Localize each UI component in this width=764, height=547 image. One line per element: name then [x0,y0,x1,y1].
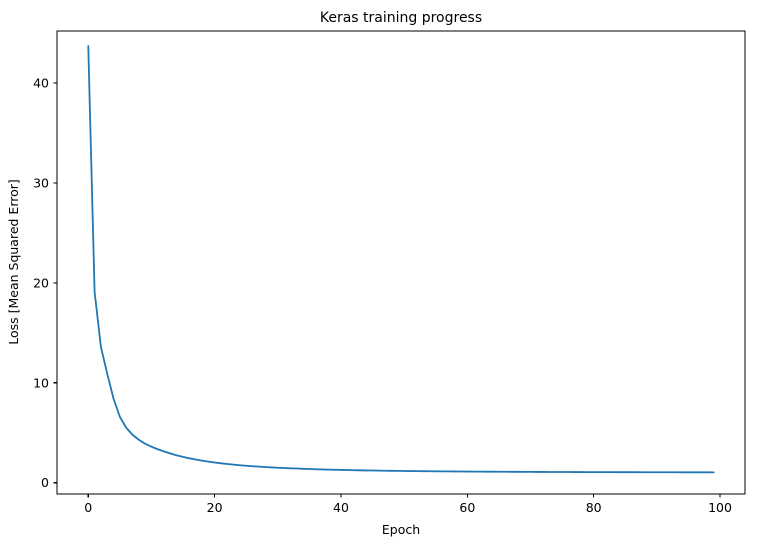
y-tick-label: 20 [33,275,49,290]
x-axis-ticks: 020406080100 [84,494,732,515]
x-tick-label: 80 [586,500,602,515]
y-tick-label: 30 [33,175,49,190]
y-axis-ticks: 010203040 [33,75,57,490]
x-axis-label: Epoch [382,522,420,537]
y-tick-label: 40 [33,75,49,90]
chart-plot: 020406080100 010203040 Keras training pr… [0,0,764,547]
x-tick-label: 40 [333,500,349,515]
y-tick-label: 10 [33,375,49,390]
y-axis-label: Loss [Mean Squared Error] [6,179,21,345]
series-group [88,46,713,472]
x-tick-label: 20 [207,500,223,515]
y-tick-label: 0 [41,475,49,490]
figure-canvas: 020406080100 010203040 Keras training pr… [0,0,764,547]
x-tick-label: 0 [84,500,92,515]
plot-frame [57,31,745,494]
x-tick-label: 60 [459,500,475,515]
x-tick-label: 100 [708,500,732,515]
chart-title: Keras training progress [320,10,482,26]
series-line-loss [88,46,713,472]
